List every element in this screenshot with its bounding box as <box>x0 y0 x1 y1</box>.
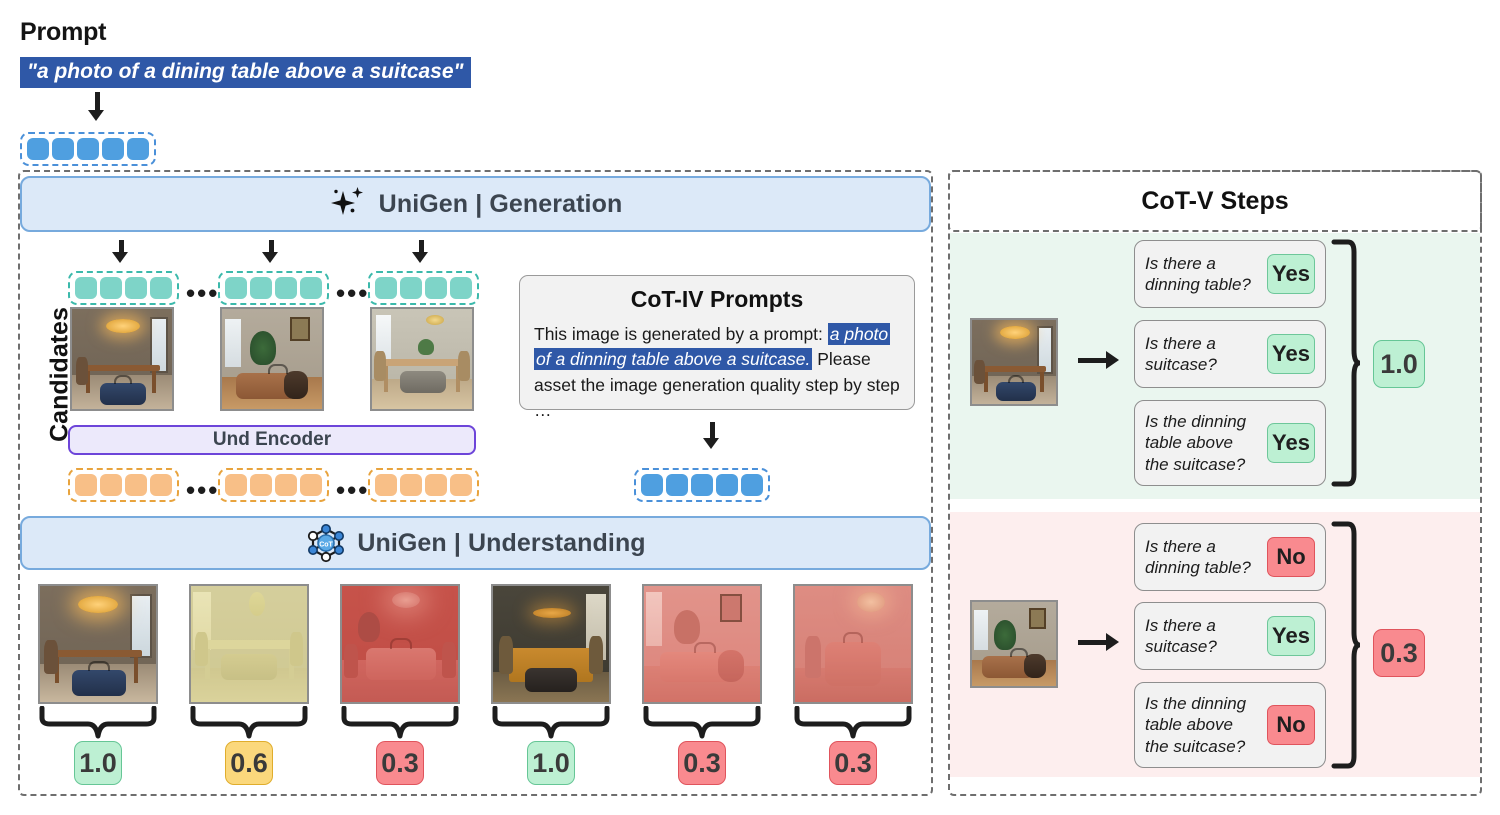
cot-v-answer: Yes <box>1267 423 1315 463</box>
result-image-1 <box>38 584 158 704</box>
cot-v-question: Is there a dinning table? <box>1145 536 1259 579</box>
result-score-4: 1.0 <box>527 741 575 785</box>
cot-v-step-card: Is there a suitcase? Yes <box>1134 320 1326 388</box>
brace-6 <box>793 706 913 740</box>
token <box>400 277 422 299</box>
cot-v-final-score-positive: 1.0 <box>1373 340 1425 388</box>
cot-v-answer: Yes <box>1267 254 1315 294</box>
cot-v-step-card: Is the dinning table above the suitcase?… <box>1134 682 1326 768</box>
unigen-generation-label: UniGen | Generation <box>379 190 623 219</box>
brace-4 <box>491 706 611 740</box>
cot-v-answer: No <box>1267 705 1315 745</box>
encoded-token-strip <box>368 468 479 502</box>
cot-v-question: Is the dinning table above the suitcase? <box>1145 693 1259 757</box>
figure-root: Prompt "a photo of a dining table above … <box>0 0 1500 815</box>
ellipsis: ••• <box>336 477 369 503</box>
cot-v-answer: Yes <box>1267 616 1315 656</box>
token <box>400 474 422 496</box>
token <box>375 277 397 299</box>
token <box>450 277 472 299</box>
brace-2 <box>189 706 309 740</box>
token <box>75 474 97 496</box>
cot-v-step-card: Is there a dinning table? No <box>1134 523 1326 591</box>
cot-v-final-score-negative: 0.3 <box>1373 629 1425 677</box>
result-image-4 <box>491 584 611 704</box>
result-image-6 <box>793 584 913 704</box>
cot-iv-token-strip <box>634 468 770 502</box>
candidate-image-1 <box>70 307 174 411</box>
cot-v-question: Is there a dinning table? <box>1145 253 1259 296</box>
cot-v-question: Is there a suitcase? <box>1145 615 1259 658</box>
cot-v-step-card: Is the dinning table above the suitcase?… <box>1134 400 1326 486</box>
token <box>150 277 172 299</box>
token <box>27 138 49 160</box>
token <box>275 277 297 299</box>
token <box>691 474 713 496</box>
result-score-1: 1.0 <box>74 741 122 785</box>
result-score-2: 0.6 <box>225 741 273 785</box>
token <box>127 138 149 160</box>
cot-v-answer: Yes <box>1267 334 1315 374</box>
cot-v-step-card: Is there a dinning table? Yes <box>1134 240 1326 308</box>
candidate-image-3 <box>370 307 474 411</box>
brace-3 <box>340 706 460 740</box>
result-image-2 <box>189 584 309 704</box>
ellipsis: ••• <box>186 477 219 503</box>
unigen-understanding-banner: CoT UniGen | Understanding <box>20 516 931 570</box>
prompt-text: "a photo of a dining table above a suitc… <box>20 57 471 88</box>
token <box>100 277 122 299</box>
token <box>425 277 447 299</box>
token <box>666 474 688 496</box>
candidate-image-2 <box>220 307 324 411</box>
cot-iv-prompts-card: CoT-IV Prompts This image is generated b… <box>519 275 915 410</box>
cot-iv-title: CoT-IV Prompts <box>534 286 900 313</box>
result-image-5 <box>642 584 762 704</box>
token <box>52 138 74 160</box>
cot-iv-body-pre: This image is generated by a prompt: <box>534 324 828 344</box>
und-encoder: Und Encoder <box>68 425 476 455</box>
brace-5 <box>642 706 762 740</box>
token <box>125 474 147 496</box>
cot-graph-icon: CoT <box>305 522 347 564</box>
token <box>300 277 322 299</box>
token <box>125 277 147 299</box>
cot-v-step-card: Is there a suitcase? Yes <box>1134 602 1326 670</box>
token <box>75 277 97 299</box>
token <box>425 474 447 496</box>
brace-1 <box>38 706 158 740</box>
und-encoder-label: Und Encoder <box>213 429 331 451</box>
token <box>77 138 99 160</box>
unigen-understanding-label: UniGen | Understanding <box>357 529 645 558</box>
cot-v-image-negative <box>970 600 1058 688</box>
cot-v-image-positive <box>970 318 1058 406</box>
token <box>275 474 297 496</box>
candidate-token-strip <box>68 271 179 305</box>
token <box>300 474 322 496</box>
cot-v-brace-positive <box>1330 238 1360 488</box>
cot-iv-body: This image is generated by a prompt: a p… <box>534 322 900 424</box>
token <box>641 474 663 496</box>
candidate-token-strip <box>368 271 479 305</box>
token <box>375 474 397 496</box>
prompt-token-strip <box>20 132 156 166</box>
ellipsis: ••• <box>336 280 369 306</box>
result-score-6: 0.3 <box>829 741 877 785</box>
sparkle-icon <box>329 185 369 223</box>
encoded-token-strip <box>68 468 179 502</box>
token <box>450 474 472 496</box>
encoded-token-strip <box>218 468 329 502</box>
candidate-token-strip <box>218 271 329 305</box>
token <box>100 474 122 496</box>
result-image-3 <box>340 584 460 704</box>
unigen-generation-banner: UniGen | Generation <box>20 176 931 232</box>
cot-v-question: Is the dinning table above the suitcase? <box>1145 411 1259 475</box>
token <box>102 138 124 160</box>
result-score-5: 0.3 <box>678 741 726 785</box>
ellipsis: ••• <box>186 280 219 306</box>
token <box>150 474 172 496</box>
token <box>250 277 272 299</box>
prompt-label: Prompt <box>20 18 106 47</box>
token <box>716 474 738 496</box>
token <box>225 277 247 299</box>
cot-v-brace-negative <box>1330 520 1360 770</box>
token <box>741 474 763 496</box>
cot-v-answer: No <box>1267 537 1315 577</box>
token <box>250 474 272 496</box>
cot-v-question: Is there a suitcase? <box>1145 333 1259 376</box>
token <box>225 474 247 496</box>
svg-text:CoT: CoT <box>320 541 334 548</box>
result-score-3: 0.3 <box>376 741 424 785</box>
